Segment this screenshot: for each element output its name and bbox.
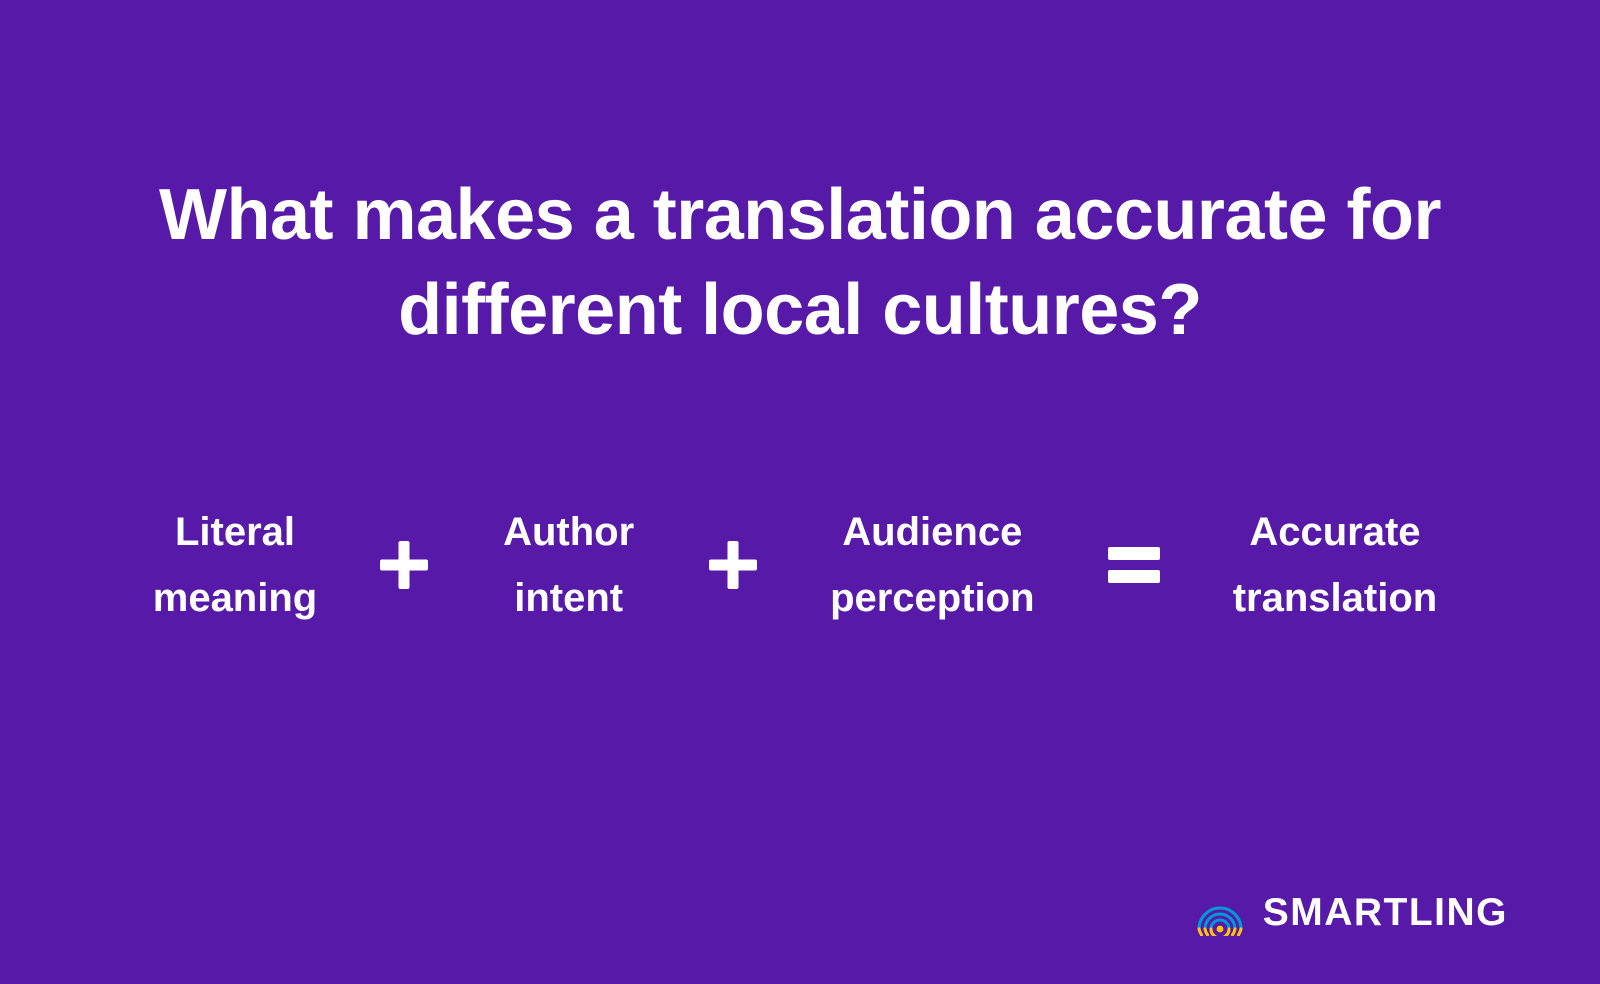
equation-term-author-intent: Author intent <box>469 499 669 631</box>
equation-row: Literal meaning Author intent Audience p… <box>130 495 1470 635</box>
brand-wordmark: SMARTLING <box>1263 893 1508 932</box>
equals-icon <box>1108 545 1160 585</box>
slide-canvas: What makes a translation accurate for di… <box>0 0 1600 984</box>
equation-term-audience-perception: Audience perception <box>797 499 1067 631</box>
mark-center-dot <box>1216 926 1223 933</box>
plus-icon <box>380 541 428 589</box>
equals-operator <box>1108 545 1160 585</box>
equation-term-accurate-translation: Accurate translation <box>1200 499 1470 631</box>
page-title: What makes a translation accurate for di… <box>0 168 1600 358</box>
plus-icon <box>709 541 757 589</box>
smartling-mark-icon <box>1194 888 1246 936</box>
plus-operator-1 <box>380 541 428 589</box>
plus-operator-2 <box>709 541 757 589</box>
brand-logo: SMARTLING <box>1194 888 1508 936</box>
equation-term-literal-meaning: Literal meaning <box>130 499 340 631</box>
